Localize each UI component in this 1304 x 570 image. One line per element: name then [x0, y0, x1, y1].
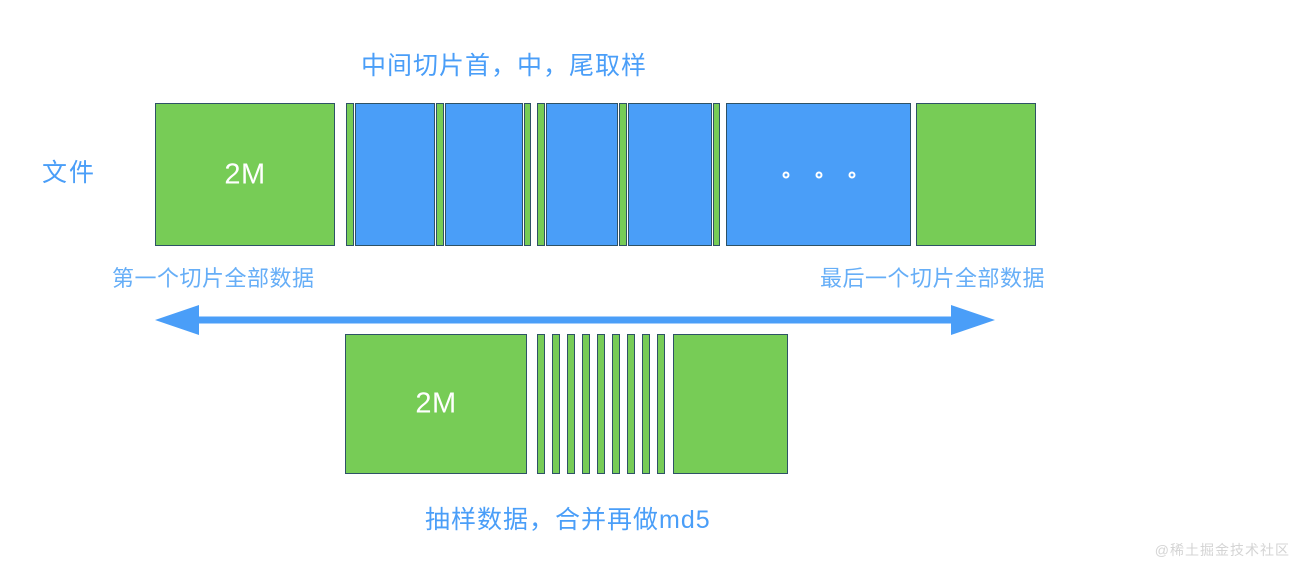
sample-tail-2 [713, 103, 720, 246]
sample-strip [552, 334, 560, 474]
arrow-line [193, 317, 957, 324]
chunk-body-1b [445, 103, 523, 246]
merged-last-chunk [673, 334, 788, 474]
watermark: @稀土掘金技术社区 [1155, 540, 1290, 560]
diagram-canvas: 中间切片首，中，尾取样 文件 2M 第一个切片全部数据 最后一个切片全部数据 2… [0, 0, 1304, 570]
sample-head-2 [537, 103, 545, 246]
sample-strip [567, 334, 575, 474]
sample-strip [642, 334, 650, 474]
merged-sample-row: 2M [0, 334, 1304, 474]
sample-mid-2 [619, 103, 627, 246]
top-caption: 中间切片首，中，尾取样 [361, 54, 647, 79]
block-size-label: 2M [346, 388, 526, 421]
chunk-body-2a [546, 103, 618, 246]
merged-first-chunk: 2M [345, 334, 527, 474]
bottom-caption: 抽样数据，合并再做md5 [425, 508, 711, 533]
sample-strip [612, 334, 620, 474]
last-chunk-label: 最后一个切片全部数据 [820, 268, 1045, 290]
ellipsis-dot-icon [848, 171, 855, 178]
ellipsis-dot-icon [815, 171, 822, 178]
first-chunk-label: 第一个切片全部数据 [112, 268, 315, 290]
chunk-body-2b [628, 103, 712, 246]
sample-strip [582, 334, 590, 474]
ellipsis-icon [782, 171, 855, 178]
ellipsis-dot-icon [782, 171, 789, 178]
sample-head-1 [346, 103, 354, 246]
last-chunk-full [916, 103, 1036, 246]
sample-mid-1 [436, 103, 444, 246]
sample-strip [657, 334, 665, 474]
sample-strip [627, 334, 635, 474]
chunk-body-1a [355, 103, 435, 246]
sample-strip [537, 334, 545, 474]
chunk-ellipsis [726, 103, 911, 246]
arrow-head-right-icon [951, 305, 995, 335]
span-double-arrow [155, 303, 995, 337]
sample-strip [597, 334, 605, 474]
first-chunk-full: 2M [155, 103, 335, 246]
sample-tail-1 [524, 103, 531, 246]
block-size-label: 2M [156, 158, 334, 191]
file-chunk-row: 2M [0, 103, 1304, 246]
